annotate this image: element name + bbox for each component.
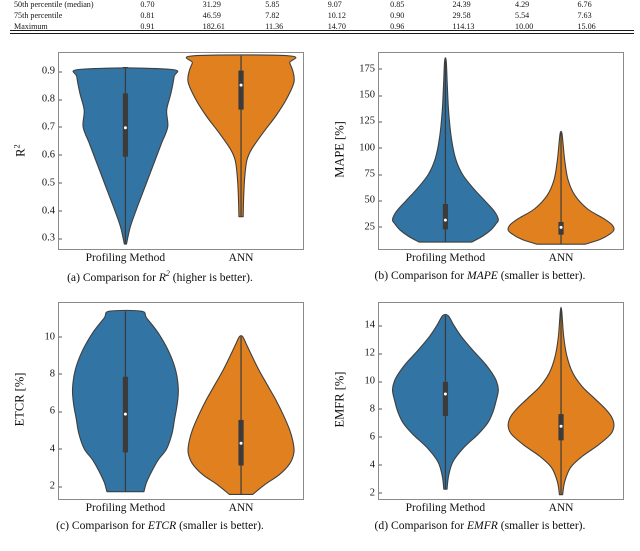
panel-caption-d: (d) Comparison for EMFR (smaller is bett…	[320, 519, 640, 532]
panel-caption-c: (c) Comparison for ETCR (smaller is bett…	[0, 519, 320, 532]
table-rule-top	[10, 30, 634, 31]
table-cell: 46.59	[203, 11, 266, 22]
violin-ann	[188, 336, 294, 495]
table-cell: 24.39	[452, 0, 515, 11]
violin-profiling-method	[392, 58, 498, 242]
table-cell: 0.96	[390, 22, 452, 33]
table-cell: 0.70	[140, 0, 202, 11]
table-cell: 11.36	[265, 22, 327, 33]
table-cell: 4.29	[515, 0, 577, 11]
plot-area-a: R20.30.40.50.60.70.80.9Profiling MethodA…	[0, 40, 320, 255]
x-tick-label-profiling-method: Profiling Method	[406, 499, 486, 514]
y-tick-label: 10	[45, 331, 60, 342]
panel-emfr: EMFR [%]2468101214Profiling MethodANN(d)…	[320, 290, 640, 545]
y-tick-label: 75	[365, 169, 380, 180]
median-marker	[240, 442, 243, 445]
x-tick-label-profiling-method: Profiling Method	[86, 499, 166, 514]
violin-series-group	[59, 53, 305, 251]
table-row-label: Maximum	[0, 22, 140, 33]
median-marker	[560, 425, 563, 428]
y-tick-label: 14	[365, 320, 380, 331]
table-cell: 14.70	[328, 22, 390, 33]
iqr-box	[443, 204, 448, 229]
x-tick-label-profiling-method: Profiling Method	[86, 249, 166, 264]
axes-frame: 246810Profiling MethodANN	[58, 302, 304, 500]
median-marker	[240, 84, 243, 87]
median-marker	[124, 126, 127, 129]
y-tick-label: 0.4	[42, 205, 59, 216]
panel-mape: MAPE [%]255075100125150175Profiling Meth…	[320, 40, 640, 295]
table-cell: 15.06	[577, 22, 640, 33]
table-cell: 10.00	[515, 22, 577, 33]
y-tick-label: 4	[370, 459, 379, 470]
violin-profiling-method	[393, 314, 499, 489]
y-tick-label: 150	[359, 90, 379, 101]
x-tick-label-ann: ANN	[229, 499, 254, 514]
plot-area-c: ETCR [%]246810Profiling MethodANN	[0, 290, 320, 505]
table-cell: 114.13	[452, 22, 515, 33]
x-tick-label-profiling-method: Profiling Method	[406, 249, 486, 264]
y-axis-label: ETCR [%]	[13, 340, 28, 460]
y-axis-label: EMFR [%]	[333, 340, 348, 460]
table-cell: 5.85	[265, 0, 327, 11]
violin-series-group	[59, 303, 305, 501]
y-axis-label: MAPE [%]	[333, 90, 348, 210]
panel-etcr: ETCR [%]246810Profiling MethodANN(c) Com…	[0, 290, 320, 545]
y-tick-label: 6	[370, 431, 379, 442]
y-tick-label: 12	[365, 348, 380, 359]
statistics-table: 50th percentile (median)0.7031.295.859.0…	[0, 0, 640, 34]
table-row: 50th percentile (median)0.7031.295.859.0…	[0, 0, 640, 11]
y-tick-label: 50	[365, 195, 380, 206]
violin-profiling-method	[73, 68, 178, 244]
y-tick-label: 0.5	[42, 177, 59, 188]
median-marker	[444, 393, 447, 396]
y-tick-label: 0.7	[42, 121, 59, 132]
table-cell: 10.12	[328, 11, 390, 22]
y-tick-label: 2	[370, 487, 379, 498]
table-cell: 31.29	[203, 0, 266, 11]
table-row-label: 50th percentile (median)	[0, 0, 140, 11]
x-tick-label-ann: ANN	[229, 249, 254, 264]
panel-r2: R20.30.40.50.60.70.80.9Profiling MethodA…	[0, 40, 320, 295]
violin-ann	[508, 307, 614, 494]
y-tick-label: 25	[365, 221, 380, 232]
table-cell: 9.07	[328, 0, 390, 11]
axes-frame: 2468101214Profiling MethodANN	[378, 302, 624, 500]
median-marker	[560, 226, 563, 229]
violin-series-group	[379, 53, 625, 251]
table-fragment: 50th percentile (median)0.7031.295.859.0…	[0, 0, 640, 36]
median-marker	[444, 219, 447, 222]
axes-frame: 255075100125150175Profiling MethodANN	[378, 52, 624, 250]
table-row: Maximum0.91182.6111.3614.700.96114.1310.…	[0, 22, 640, 33]
table-cell: 0.85	[390, 0, 452, 11]
y-tick-label: 0.3	[42, 233, 59, 244]
y-tick-label: 8	[370, 403, 379, 414]
panel-caption-b: (b) Comparison for MAPE (smaller is bett…	[320, 269, 640, 282]
violin-ann	[508, 131, 614, 244]
table-cell: 7.82	[265, 11, 327, 22]
y-tick-label: 100	[359, 142, 379, 153]
y-tick-label: 6	[50, 406, 59, 417]
table-cell: 182.61	[203, 22, 266, 33]
y-tick-label: 2	[50, 481, 59, 492]
table-cell: 0.91	[140, 22, 202, 33]
iqr-box	[123, 93, 128, 156]
x-tick-label-ann: ANN	[549, 249, 574, 264]
x-tick-label-ann: ANN	[549, 499, 574, 514]
y-tick-label: 0.6	[42, 149, 59, 160]
y-tick-label: 4	[50, 443, 59, 454]
table-cell: 0.90	[390, 11, 452, 22]
table-rule-bottom	[10, 33, 634, 34]
y-tick-label: 0.8	[42, 94, 59, 105]
y-tick-label: 125	[359, 116, 379, 127]
y-tick-label: 175	[359, 63, 379, 74]
violin-profiling-method	[72, 310, 178, 491]
table-cell: 5.54	[515, 11, 577, 22]
plot-area-d: EMFR [%]2468101214Profiling MethodANN	[320, 290, 640, 505]
y-tick-label: 0.9	[42, 66, 59, 77]
table-cell: 0.81	[140, 11, 202, 22]
y-axis-label: R2	[11, 91, 28, 211]
median-marker	[124, 413, 127, 416]
y-tick-label: 8	[50, 368, 59, 379]
violin-series-group	[379, 303, 625, 501]
panel-caption-a: (a) Comparison for R2 (higher is better)…	[0, 269, 320, 284]
plot-area-b: MAPE [%]255075100125150175Profiling Meth…	[320, 40, 640, 255]
table-cell: 29.58	[452, 11, 515, 22]
axes-frame: 0.30.40.50.60.70.80.9Profiling MethodANN	[58, 52, 304, 250]
table-row: 75th percentile0.8146.597.8210.120.9029.…	[0, 11, 640, 22]
violin-figure: R20.30.40.50.60.70.80.9Profiling MethodA…	[0, 40, 640, 551]
iqr-box	[443, 382, 448, 416]
y-tick-label: 10	[365, 376, 380, 387]
table-cell: 6.76	[577, 0, 640, 11]
table-row-label: 75th percentile	[0, 11, 140, 22]
iqr-box	[238, 71, 243, 110]
violin-ann	[186, 55, 296, 217]
table-cell: 7.63	[577, 11, 640, 22]
